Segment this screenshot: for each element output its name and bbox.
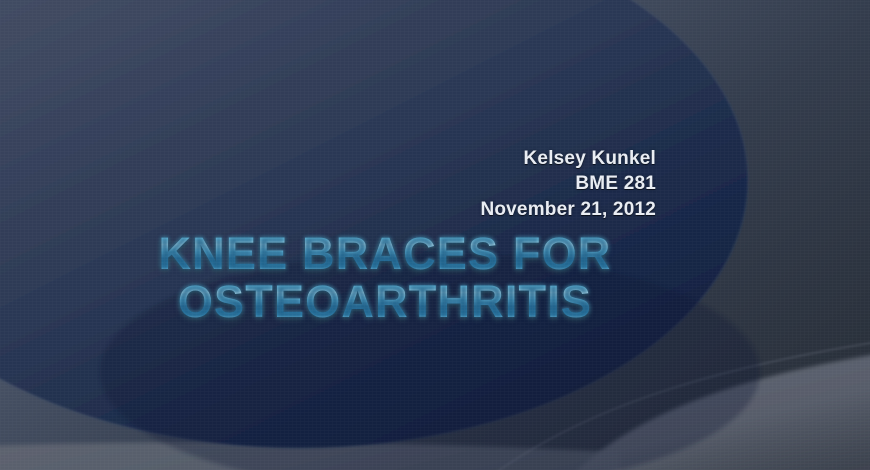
page-title: Knee Braces for Osteoarthritis [55, 231, 715, 327]
date-line: November 21, 2012 [180, 197, 656, 222]
title-line-2: Osteoarthritis [55, 279, 715, 324]
author-line: Kelsey Kunkel [180, 146, 656, 171]
subtitle-block: Kelsey Kunkel BME 281 November 21, 2012 [180, 146, 656, 222]
course-line: BME 281 [180, 171, 656, 196]
title-line-1: Knee Braces for [55, 231, 715, 276]
title-slide: Kelsey Kunkel BME 281 November 21, 2012 … [0, 0, 870, 470]
